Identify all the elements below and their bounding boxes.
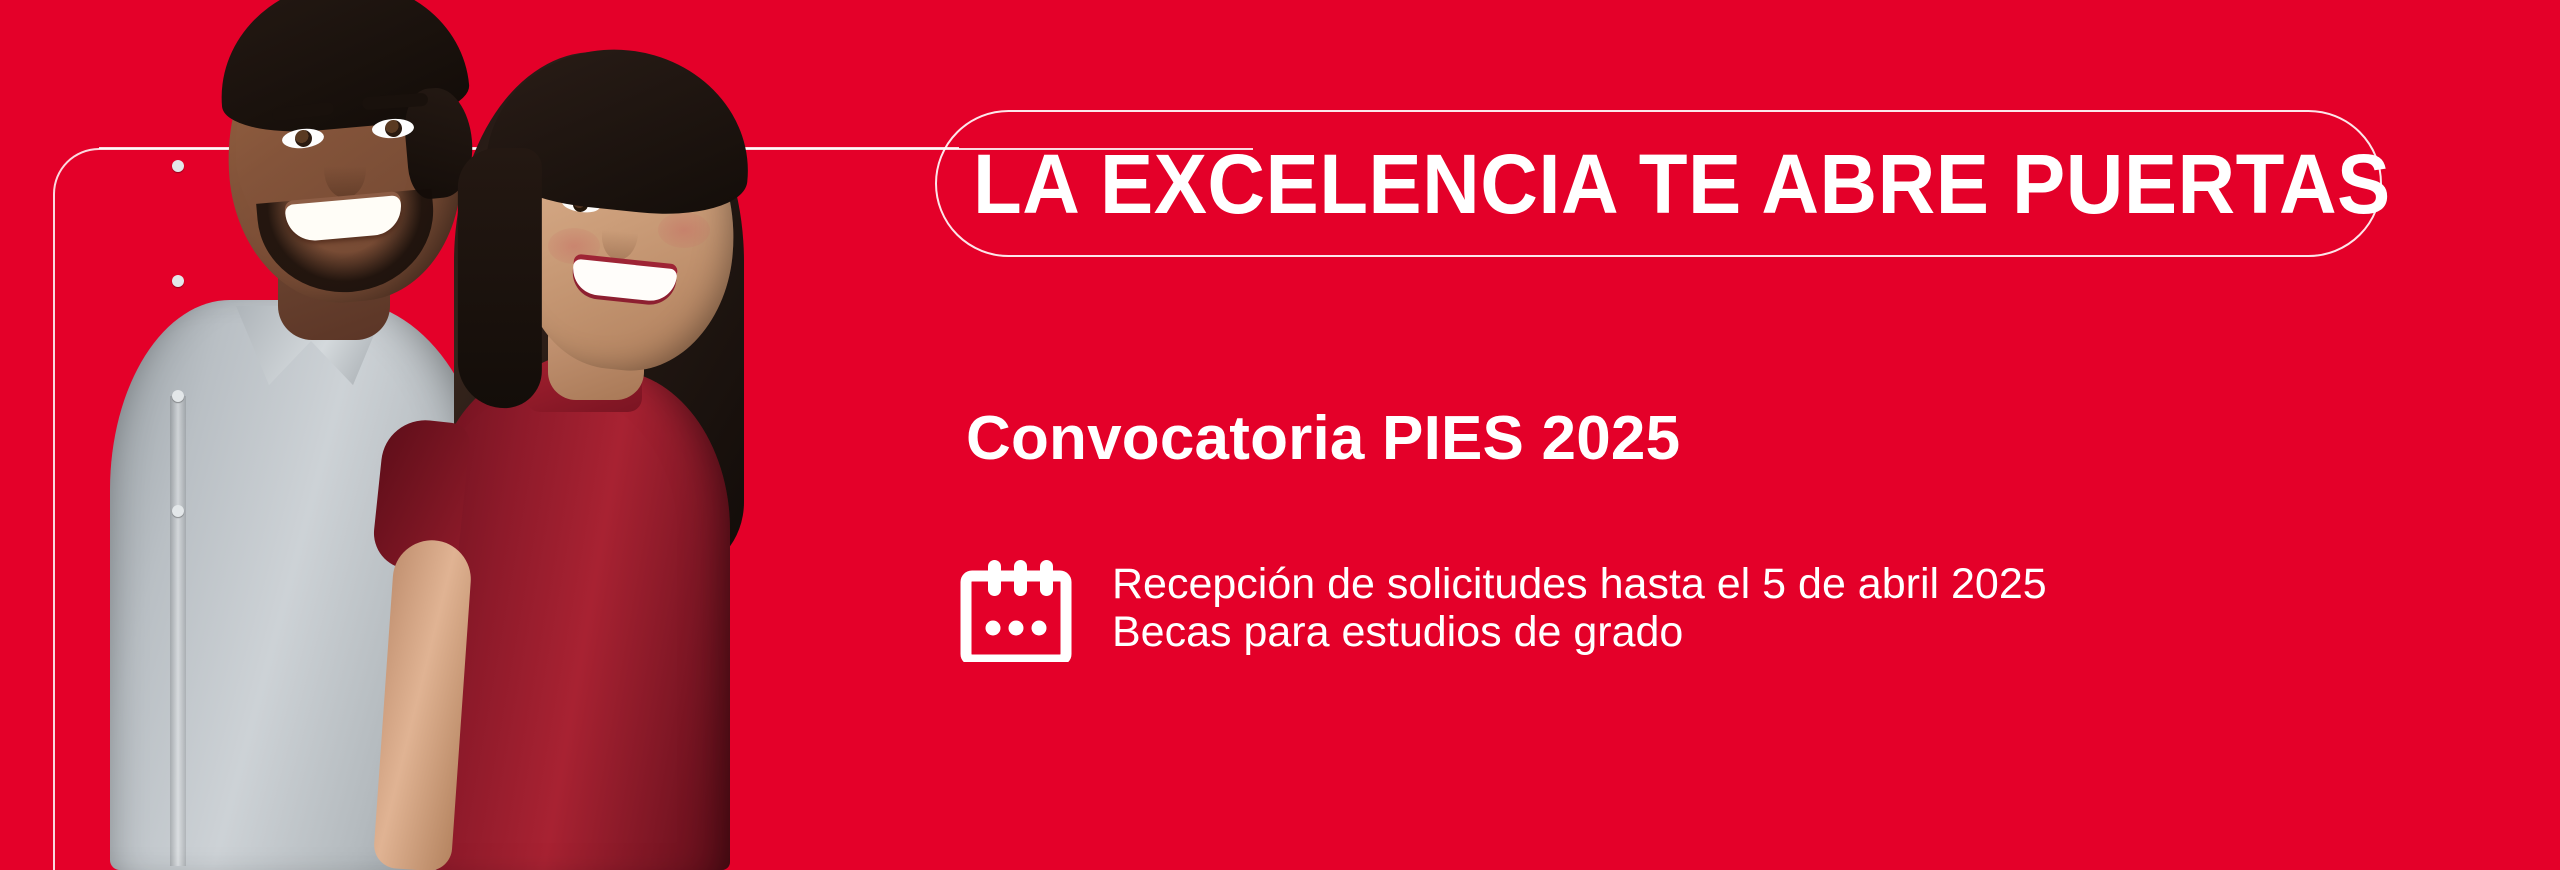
subtitle-text: Convocatoria PIES 2025 xyxy=(966,408,1680,470)
female-maroon-top xyxy=(430,370,730,870)
female-cheek-left xyxy=(548,228,600,264)
headline-text: LA EXCELENCIA TE ABRE PUERTAS xyxy=(973,142,2391,226)
student-female-figure xyxy=(370,70,790,870)
headline-pill: LA EXCELENCIA TE ABRE PUERTAS xyxy=(935,110,2382,257)
female-cheek-right xyxy=(658,212,710,248)
students-photo xyxy=(0,0,900,870)
promo-banner: LA EXCELENCIA TE ABRE PUERTAS Convocator… xyxy=(0,0,2560,870)
info-line-deadline: Recepción de solicitudes hasta el 5 de a… xyxy=(1112,560,2047,608)
info-lines: Recepción de solicitudes hasta el 5 de a… xyxy=(1112,558,2047,656)
male-shirt-buttons xyxy=(172,160,184,560)
male-nose xyxy=(324,140,366,198)
info-line-scope: Becas para estudios de grado xyxy=(1112,608,2047,656)
info-block: Recepción de solicitudes hasta el 5 de a… xyxy=(960,558,2047,662)
calendar-icon xyxy=(960,558,1072,662)
